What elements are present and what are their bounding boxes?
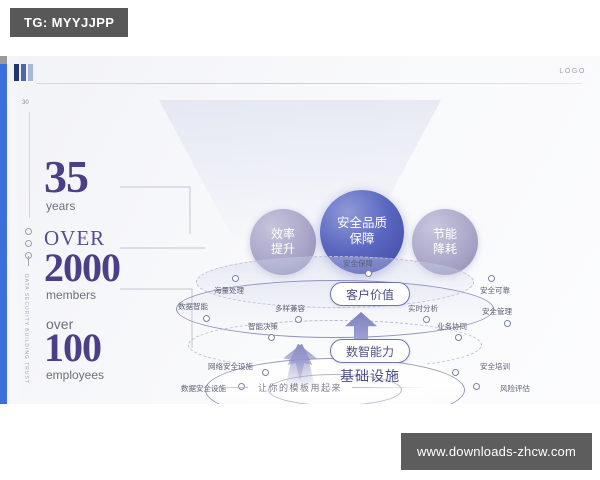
node-security-guarantee: 安全保障 [343,258,373,269]
footer-rule-right [352,387,424,388]
sphere-security-line2: 保障 [349,232,374,246]
node-dot [452,369,459,376]
rail-dots [25,228,32,259]
footer-caption-text: 让你的模板用起来 [258,381,342,394]
stat-years-value: 35 [44,156,120,198]
node-security-management: 安全管理 [482,306,512,317]
sphere-efficiency-line1: 效率 [271,227,295,241]
capsule-digital-ability: 数智能力 [330,339,410,363]
sphere-energy-line2: 降耗 [433,242,457,256]
node-dot [232,275,239,282]
rail-number: 30 [22,100,29,106]
footer-caption: 让你的模板用起来 [0,381,600,394]
stat-employees-label: employees [46,368,120,382]
node-secure-reliable: 安全可靠 [480,285,510,296]
node-dot [268,334,275,341]
node-dot [455,334,462,341]
rail-tick [28,256,29,266]
left-accent-strip [0,56,7,404]
slide-canvas: LOGO 30 DATA SECURITY BUILDING TRUST 35 … [0,56,600,404]
stat-members-label: members [46,288,120,302]
bar-chart-icon [14,64,33,81]
stats-block: 35 years OVER 2000 members over 100 empl… [44,156,120,396]
node-dot [295,316,302,323]
node-dot [203,315,210,322]
node-dot [504,320,511,327]
top-watermark-tag: TG: MYYJJPP [10,8,128,37]
node-dot [365,270,372,277]
footer-rule-left [176,387,248,388]
bottom-watermark-url: www.downloads-zhcw.com [401,433,592,470]
node-business-collab: 业务协同 [437,321,467,332]
stat-members-value: 2000 [44,250,120,287]
header-divider [36,83,582,84]
sphere-security-line1: 安全品质 [337,216,387,230]
node-dot [262,369,269,376]
node-multi-compatible: 多样兼容 [275,303,305,314]
node-security-training: 安全培训 [480,361,510,372]
stat-employees-value: 100 [44,330,120,367]
left-grey-marker [0,56,7,64]
node-smart-decision: 智能决策 [248,321,278,332]
node-network-security-facility: 网络安全设施 [208,361,253,372]
rail-vertical-text: DATA SECURITY BUILDING TRUST [23,274,29,384]
logo-placeholder: LOGO [559,68,586,75]
node-mass-processing: 海量处理 [214,285,244,296]
node-data-intelligence: 数据智能 [178,301,208,312]
rail-line [29,112,30,218]
capsule-customer-value: 客户价值 [330,282,410,306]
sphere-energy-line1: 节能 [433,227,457,241]
node-dot [423,316,430,323]
sphere-efficiency-line2: 提升 [271,242,295,256]
node-dot [488,275,495,282]
node-realtime-analysis: 实时分析 [408,303,438,314]
